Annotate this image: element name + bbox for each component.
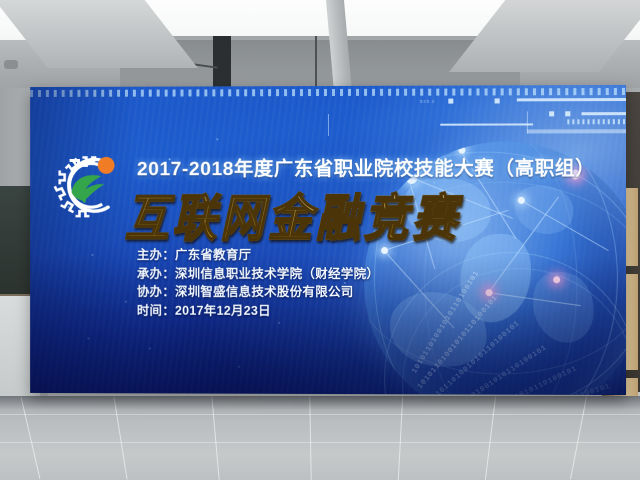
info-line-date: 时间：2017年12月23日 — [137, 301, 379, 320]
screenshot-root: 525.2 — [0, 0, 640, 480]
gear-leaf-logo — [52, 148, 125, 222]
smoke-detector — [4, 60, 18, 69]
green-leaf-icon — [72, 175, 105, 201]
event-backdrop-banner: 525.2 — [30, 85, 626, 395]
banner-gold-title: 互联网金融竞赛 — [125, 177, 460, 250]
info-line-host: 承办：深圳信息职业技术学院（财经学院） — [137, 264, 379, 283]
orange-dot-icon — [98, 157, 115, 174]
banner-info-block: 主办：广东省教育厅 承办：深圳信息职业技术学院（财经学院） 协办：深圳智盛信息技… — [137, 246, 379, 320]
info-line-coorganizer: 协办：深圳智盛信息技术股份有限公司 — [137, 283, 379, 302]
ceiling-duct — [213, 36, 231, 88]
info-line-organizer: 主办：广东省教育厅 — [137, 246, 379, 265]
banner-floor-shadow — [0, 396, 640, 410]
ceiling-pipe-right — [315, 36, 317, 88]
